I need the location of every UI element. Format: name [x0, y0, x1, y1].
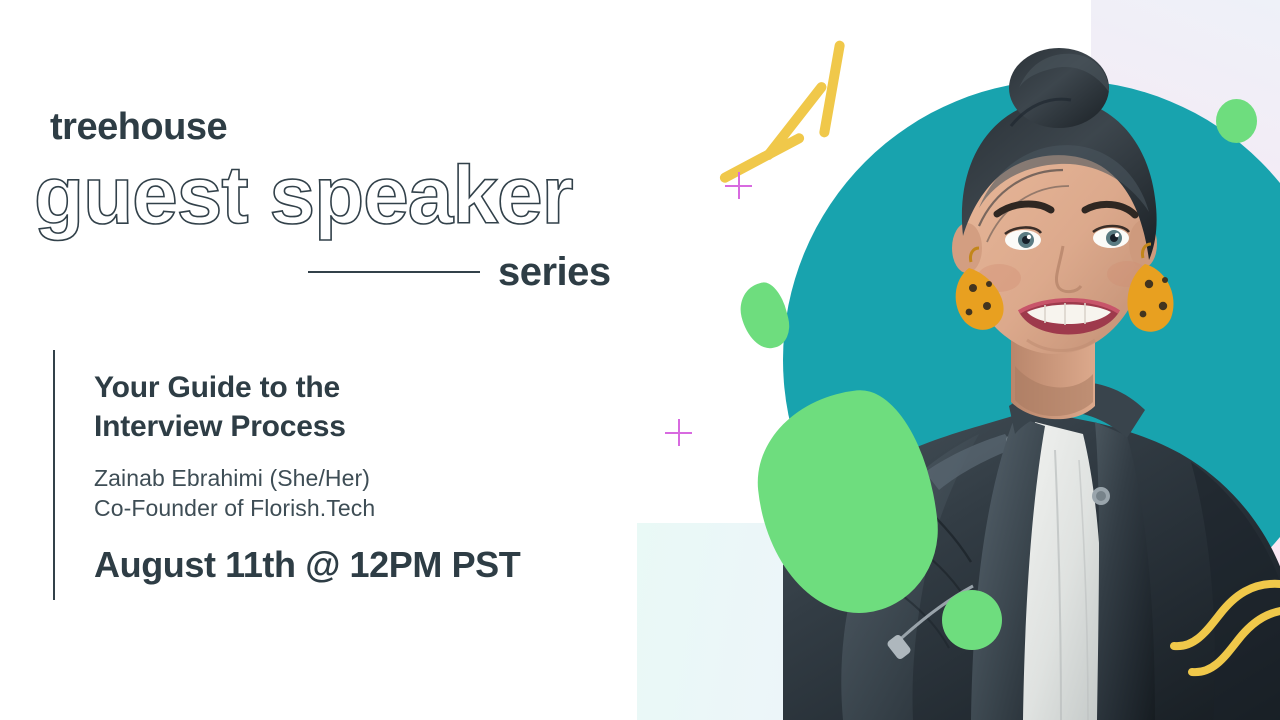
talk-title: Your Guide to the Interview Process	[94, 368, 633, 447]
content-column: treehouse guest speaker series Your Guid…	[0, 0, 660, 720]
green-circle-bottom	[942, 590, 1002, 650]
wave-stroke-icon	[1186, 600, 1280, 690]
series-label: series	[498, 252, 611, 292]
outline-headline: guest speaker	[34, 154, 573, 238]
speaker-role: Co-Founder of Florish.Tech	[94, 493, 633, 524]
talk-title-line-1: Your Guide to the	[94, 371, 340, 404]
speaker-name: Zainab Ebrahimi (She/Her)	[94, 463, 633, 494]
series-row: series	[308, 252, 626, 292]
talk-title-line-2: Interview Process	[94, 410, 346, 443]
plus-mark-icon	[725, 172, 752, 199]
promo-banner: treehouse guest speaker series Your Guid…	[0, 0, 1280, 720]
event-datetime: August 11th @ 12PM PST	[94, 544, 633, 586]
green-circle-top-right	[1216, 99, 1257, 143]
plus-mark-icon	[665, 419, 692, 446]
series-divider	[308, 271, 480, 273]
treehouse-wordmark: treehouse	[50, 106, 227, 149]
event-details: Your Guide to the Interview Process Zain…	[53, 350, 633, 600]
